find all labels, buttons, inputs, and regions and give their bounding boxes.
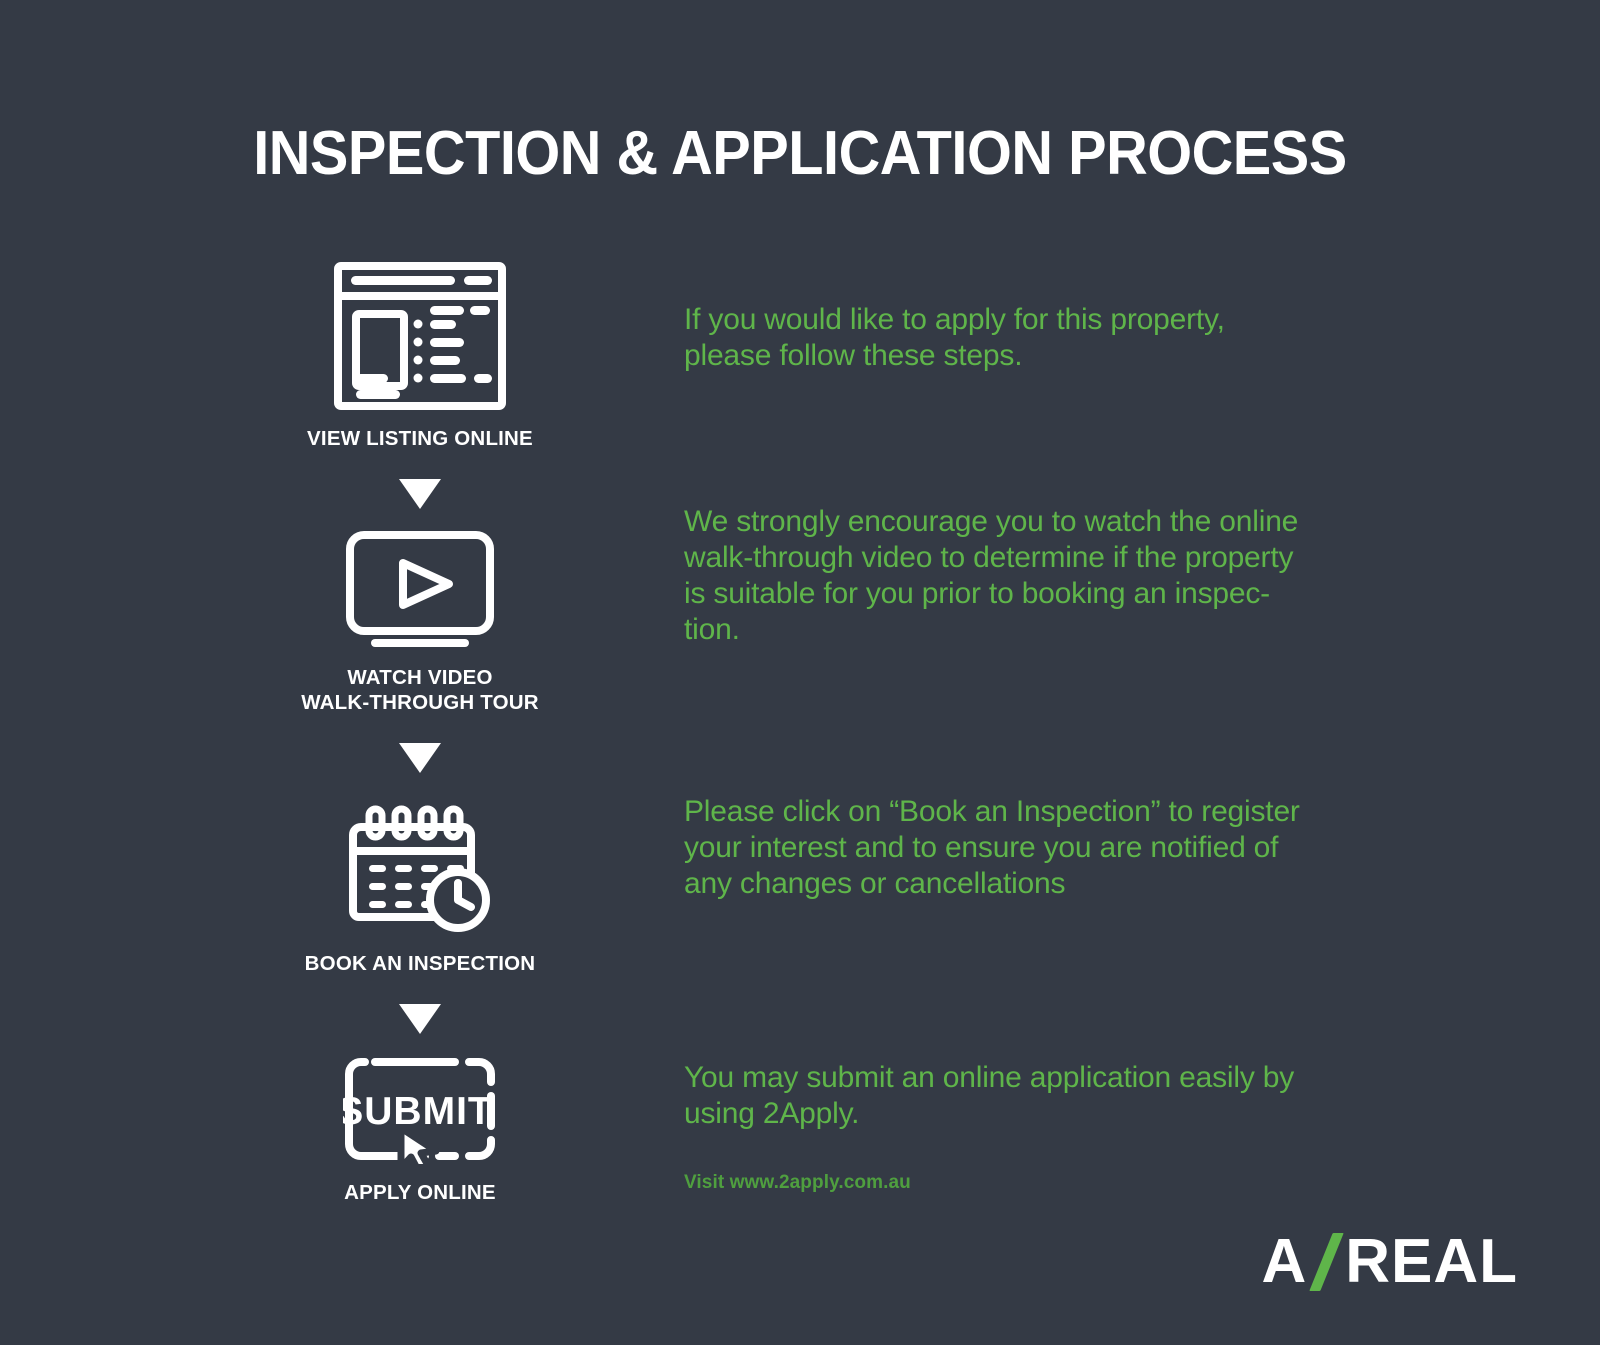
calendar-clock-icon [345, 795, 495, 935]
spacer [250, 715, 590, 743]
triangle-down-arrow-icon [399, 743, 441, 773]
note-apply-online: You may submit an online application eas… [684, 1060, 1424, 1132]
triangle-down-arrow-icon [399, 1004, 441, 1034]
slash-icon [1309, 1233, 1343, 1291]
note-watch-video: We strongly encourage you to watch the o… [684, 504, 1424, 648]
step-label: APPLY ONLINE [250, 1180, 590, 1205]
step-view-listing-online[interactable]: VIEW LISTING ONLINE [250, 262, 590, 451]
step-label: WATCH VIDEO WALK-THROUGH TOUR [250, 665, 590, 715]
step-label: BOOK AN INSPECTION [250, 951, 590, 976]
step-watch-video-walk-through-tour[interactable]: WATCH VIDEO WALK-THROUGH TOUR [250, 531, 590, 715]
triangle-down-arrow-icon [399, 479, 441, 509]
svg-text:SUBMIT: SUBMIT [343, 1090, 493, 1133]
step-book-an-inspection[interactable]: BOOK AN INSPECTION [250, 795, 590, 976]
logo-word-real: REAL [1345, 1231, 1518, 1293]
visit-link[interactable]: Visit www.2apply.com.au [684, 1172, 1424, 1194]
spacer [250, 976, 590, 1004]
spacer [250, 451, 590, 479]
brand-logo: A REAL [1261, 1231, 1518, 1293]
video-monitor-play-icon [345, 531, 495, 649]
browser-listing-icon [334, 262, 506, 410]
spacer [250, 509, 590, 531]
page-title: INSPECTION & APPLICATION PROCESS [56, 118, 1544, 189]
note-view-listing: If you would like to apply for this prop… [684, 302, 1424, 374]
step-apply-online[interactable]: SUBMIT APPLY ONLINE [250, 1056, 590, 1205]
process-step-flow: VIEW LISTING ONLINE WATCH VIDEO WALK-THR… [250, 262, 590, 1205]
instructions-column: If you would like to apply for this prop… [684, 262, 1424, 1194]
submit-button-cursor-icon: SUBMIT [343, 1056, 497, 1164]
note-book-inspection: Please click on “Book an Inspection” to … [684, 794, 1424, 902]
logo-letter-a: A [1261, 1231, 1307, 1293]
step-label: VIEW LISTING ONLINE [250, 426, 590, 451]
spacer [250, 1034, 590, 1056]
infographic-page: INSPECTION & APPLICATION PROCESS [0, 0, 1600, 1345]
spacer [250, 773, 590, 795]
